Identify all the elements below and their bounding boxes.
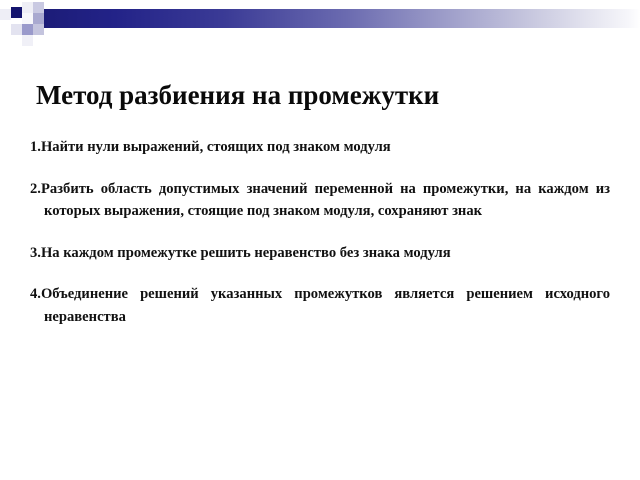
slide-decoration	[0, 0, 640, 48]
list-item: 4.Объединение решений указанных промежут…	[30, 283, 610, 328]
square-pale-upper-mid	[22, 2, 33, 13]
square-navy-top-left	[11, 7, 22, 18]
slide-body-list: 1.Найти нули выражений, стоящих под знак…	[30, 136, 610, 329]
square-pale-bottom	[22, 35, 33, 46]
square-mid-center	[33, 13, 44, 24]
square-mid-lower	[22, 24, 33, 35]
decoration-gradient-bar	[30, 9, 640, 28]
list-item: 1.Найти нули выражений, стоящих под знак…	[30, 136, 610, 159]
square-pale-left	[0, 9, 11, 20]
square-white-gap	[22, 13, 33, 24]
list-item: 2.Разбить область допустимых значений пе…	[30, 178, 610, 223]
square-pale-lower-left	[11, 24, 22, 35]
square-light-upper-right	[33, 2, 44, 13]
square-light-lower-right	[33, 24, 44, 35]
list-item: 3.На каждом промежутке решить неравенств…	[30, 242, 610, 265]
slide-title: Метод разбиения на промежутки	[36, 80, 616, 111]
